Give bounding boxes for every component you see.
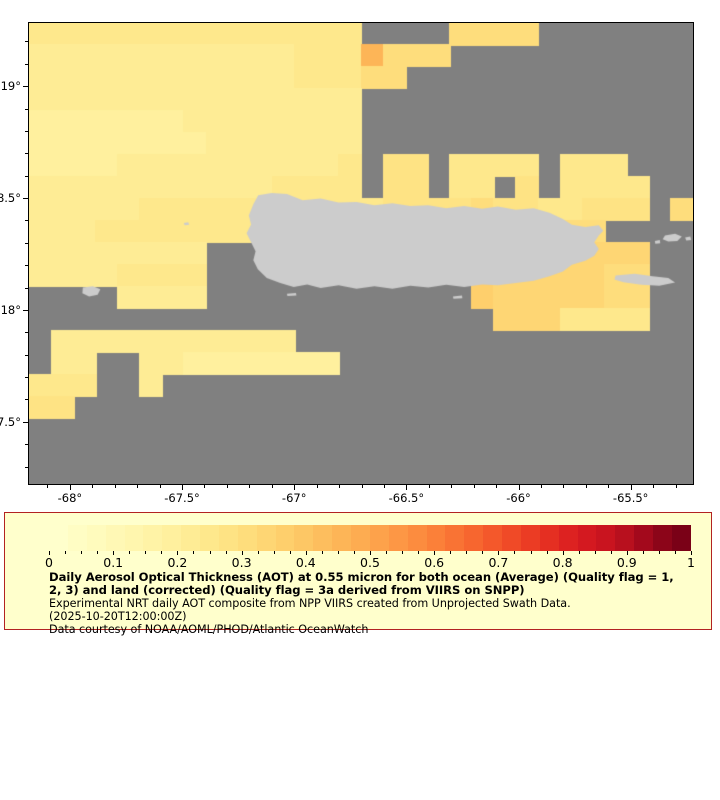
x-minor-tick	[317, 485, 318, 488]
colorbar-segment-23	[483, 525, 502, 551]
x-minor-tick	[227, 485, 228, 488]
colorbar-tick-label-8: 0.8	[553, 555, 573, 570]
colorbar-segment-15	[332, 525, 351, 551]
colorbar-minor-tick	[65, 551, 66, 554]
colorbar-axis: 00.10.20.30.40.50.60.70.80.91	[49, 551, 691, 571]
x-minor-tick	[272, 485, 273, 488]
colorbar-segment-27	[559, 525, 578, 551]
y-minor-tick	[25, 109, 28, 110]
colorbar-minor-tick	[81, 551, 82, 554]
colorbar-minor-tick	[210, 551, 211, 554]
x-minor-tick	[608, 485, 609, 488]
colorbar-segment-13	[294, 525, 313, 551]
colorbar-segment-6	[162, 525, 181, 551]
x-tick-label-5: -65.5°	[613, 491, 649, 505]
x-tick-label-0: -68°	[58, 491, 83, 505]
colorbar-segment-12	[276, 525, 295, 551]
colorbar-minor-tick	[258, 551, 259, 554]
y-tick-0	[23, 86, 28, 87]
x-minor-tick	[160, 485, 161, 488]
colorbar-minor-tick	[402, 551, 403, 554]
colorbar-minor-tick	[290, 551, 291, 554]
x-tick-label-3: -66.5°	[389, 491, 425, 505]
colorbar-segment-1	[68, 525, 87, 551]
colorbar-segment-10	[238, 525, 257, 551]
y-minor-tick	[25, 444, 28, 445]
x-minor-tick	[653, 485, 654, 488]
y-minor-tick	[25, 64, 28, 65]
legend-box: 00.10.20.30.40.50.60.70.80.91 Daily Aero…	[4, 512, 712, 630]
colorbar-tick-label-9: 0.9	[617, 555, 637, 570]
colorbar-segment-21	[445, 525, 464, 551]
map-panel[interactable]	[28, 22, 694, 485]
y-minor-tick	[25, 399, 28, 400]
colorbar-minor-tick	[659, 551, 660, 554]
x-tick-5	[631, 485, 632, 490]
y-tick-1	[23, 198, 28, 199]
x-minor-tick	[496, 485, 497, 488]
y-minor-tick	[25, 176, 28, 177]
colorbar-minor-tick	[450, 551, 451, 554]
y-minor-tick	[25, 467, 28, 468]
colorbar-segment-5	[143, 525, 162, 551]
colorbar-segment-4	[125, 525, 144, 551]
colorbar-minor-tick	[129, 551, 130, 554]
caption-desc-line1: Experimental NRT daily AOT composite fro…	[49, 597, 699, 610]
colorbar-segment-33	[672, 525, 691, 551]
colorbar-minor-tick	[643, 551, 644, 554]
colorbar-tick-label-4: 0.4	[296, 555, 316, 570]
colorbar-segment-9	[219, 525, 238, 551]
colorbar-tick-label-6: 0.6	[424, 555, 444, 570]
x-tick-0	[70, 485, 71, 490]
legend-caption: Daily Aerosol Optical Thickness (AOT) at…	[49, 571, 699, 636]
caption-desc-line2: (2025-10-20T12:00:00Z)	[49, 610, 699, 623]
colorbar-tick-label-3: 0.3	[232, 555, 252, 570]
x-tick-label-4: -66°	[506, 491, 531, 505]
x-minor-tick	[137, 485, 138, 488]
colorbar-segment-3	[106, 525, 125, 551]
x-minor-tick	[384, 485, 385, 488]
colorbar-segment-0	[49, 525, 68, 551]
colorbar-segment-18	[389, 525, 408, 551]
y-tick-label-2: 18°	[1, 303, 21, 317]
colorbar-minor-tick	[579, 551, 580, 554]
colorbar-segment-11	[257, 525, 276, 551]
caption-title-line2: 2, 3) and land (corrected) (Quality flag…	[49, 584, 699, 597]
colorbar-segment-8	[200, 525, 219, 551]
colorbar-minor-tick	[226, 551, 227, 554]
colorbar-segment-32	[653, 525, 672, 551]
colorbar-minor-tick	[386, 551, 387, 554]
x-minor-tick	[47, 485, 48, 488]
x-minor-tick	[339, 485, 340, 488]
colorbar-segment-28	[578, 525, 597, 551]
colorbar-minor-tick	[322, 551, 323, 554]
colorbar-tick-label-7: 0.7	[488, 555, 508, 570]
y-minor-tick	[25, 220, 28, 221]
colorbar-minor-tick	[595, 551, 596, 554]
colorbar-segment-17	[370, 525, 389, 551]
x-minor-tick	[451, 485, 452, 488]
x-minor-tick	[204, 485, 205, 488]
colorbar-segment-2	[87, 525, 106, 551]
x-minor-tick	[541, 485, 542, 488]
y-minor-tick	[25, 243, 28, 244]
colorbar-tick-label-2: 0.2	[167, 555, 187, 570]
colorbar-minor-tick	[611, 551, 612, 554]
x-minor-tick	[115, 485, 116, 488]
y-minor-tick	[25, 153, 28, 154]
x-tick-label-2: -67°	[282, 491, 307, 505]
y-tick-label-3: 17.5°	[0, 415, 21, 429]
colorbar-minor-tick	[514, 551, 515, 554]
colorbar-tick-label-0: 0	[45, 555, 53, 570]
y-tick-2	[23, 310, 28, 311]
x-minor-tick	[586, 485, 587, 488]
caption-desc-line3: Data courtesy of NOAA/AOML/PHOD/Atlantic…	[49, 623, 699, 636]
x-minor-tick	[249, 485, 250, 488]
y-minor-tick	[25, 131, 28, 132]
y-tick-label-1: 18.5°	[0, 191, 21, 205]
colorbar-segment-31	[634, 525, 653, 551]
colorbar[interactable]	[49, 525, 691, 551]
y-minor-tick	[25, 288, 28, 289]
y-minor-tick	[25, 41, 28, 42]
colorbar-minor-tick	[97, 551, 98, 554]
aot-heatmap-canvas[interactable]	[29, 23, 693, 484]
colorbar-segment-19	[408, 525, 427, 551]
colorbar-segment-16	[351, 525, 370, 551]
colorbar-minor-tick	[161, 551, 162, 554]
x-minor-tick	[474, 485, 475, 488]
colorbar-minor-tick	[482, 551, 483, 554]
colorbar-segment-26	[540, 525, 559, 551]
x-tick-2	[294, 485, 295, 490]
colorbar-segment-29	[596, 525, 615, 551]
colorbar-minor-tick	[675, 551, 676, 554]
colorbar-minor-tick	[354, 551, 355, 554]
colorbar-minor-tick	[418, 551, 419, 554]
colorbar-tick-label-1: 0.1	[103, 555, 123, 570]
colorbar-minor-tick	[338, 551, 339, 554]
y-minor-tick	[25, 265, 28, 266]
colorbar-segment-25	[521, 525, 540, 551]
y-tick-label-0: 19°	[1, 79, 21, 93]
colorbar-tick-label-10: 1	[687, 555, 695, 570]
colorbar-segment-20	[427, 525, 446, 551]
x-minor-tick	[563, 485, 564, 488]
x-tick-1	[182, 485, 183, 490]
colorbar-minor-tick	[466, 551, 467, 554]
x-minor-tick	[429, 485, 430, 488]
colorbar-segment-22	[464, 525, 483, 551]
colorbar-minor-tick	[547, 551, 548, 554]
y-minor-tick	[25, 377, 28, 378]
x-tick-label-1: -67.5°	[164, 491, 200, 505]
colorbar-segment-30	[615, 525, 634, 551]
colorbar-segment-14	[313, 525, 332, 551]
colorbar-segment-7	[181, 525, 200, 551]
x-tick-4	[519, 485, 520, 490]
y-tick-3	[23, 422, 28, 423]
y-minor-tick	[25, 355, 28, 356]
x-tick-3	[406, 485, 407, 490]
x-minor-tick	[362, 485, 363, 488]
aot-map-figure: -68°-67.5°-67°-66.5°-66°-65.5°19°18.5°18…	[0, 0, 720, 800]
colorbar-segment-24	[502, 525, 521, 551]
colorbar-minor-tick	[145, 551, 146, 554]
y-minor-tick	[25, 332, 28, 333]
x-minor-tick	[92, 485, 93, 488]
colorbar-minor-tick	[531, 551, 532, 554]
x-minor-tick	[676, 485, 677, 488]
colorbar-minor-tick	[274, 551, 275, 554]
colorbar-minor-tick	[193, 551, 194, 554]
colorbar-tick-label-5: 0.5	[360, 555, 380, 570]
